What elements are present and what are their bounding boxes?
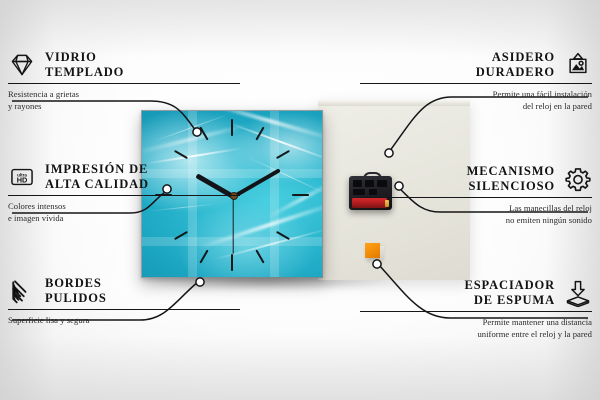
feature-divider [8, 195, 240, 196]
feature-title: IMPRESIÓN DE ALTA CALIDAD [45, 162, 149, 192]
feature-divider [8, 83, 240, 84]
feature-bordes-pulidos: BORDES PULIDOS Superficie lisa y segura [8, 276, 240, 326]
feature-asidero-duradero: ASIDERO DURADERO Permite una fácil insta… [360, 50, 592, 112]
clock-tick [231, 119, 233, 136]
gear-icon [564, 165, 592, 193]
feature-subtitle: Resistencia a grietas y rayones [8, 88, 240, 112]
feature-divider [360, 311, 592, 312]
feature-title: MECANISMO SILENCIOSO [467, 164, 555, 194]
feature-title: ESPACIADOR DE ESPUMA [465, 278, 555, 308]
polished-edges-icon [8, 277, 36, 305]
svg-text:HD: HD [17, 175, 28, 184]
clock-tick [231, 254, 233, 271]
foam-spacer-side [380, 246, 384, 260]
feature-divider [360, 83, 592, 84]
feature-subtitle: Las manecillas del reloj no emiten ningú… [360, 202, 592, 226]
clock-tick [292, 194, 309, 196]
feature-title: BORDES PULIDOS [45, 276, 107, 306]
feature-mecanismo-silencioso: MECANISMO SILENCIOSO Las manecillas del … [360, 164, 592, 226]
feature-title: ASIDERO DURADERO [476, 50, 555, 80]
diamond-icon [8, 51, 36, 79]
foam-spacer [365, 243, 380, 258]
product-infographic: VIDRIO TEMPLADO Resistencia a grietas y … [0, 0, 600, 400]
feature-subtitle: Superficie lisa y segura [8, 314, 240, 326]
feature-subtitle: Permite mantener una distancia uniforme … [360, 316, 592, 340]
foam-spacer-icon [564, 279, 592, 307]
ultra-hd-icon: ultra HD [8, 163, 36, 191]
feature-subtitle: Permite una fácil instalación del reloj … [360, 88, 592, 112]
feature-espaciador-de-espuma: ESPACIADOR DE ESPUMA Permite mantener un… [360, 278, 592, 340]
feature-subtitle: Colores intensos e imagen vívida [8, 200, 240, 224]
feature-title: VIDRIO TEMPLADO [45, 50, 124, 80]
feature-vidrio-templado: VIDRIO TEMPLADO Resistencia a grietas y … [8, 50, 240, 112]
feature-divider [360, 197, 592, 198]
feature-impresion-alta-calidad: ultra HD IMPRESIÓN DE ALTA CALIDAD Color… [8, 162, 240, 224]
picture-hanger-icon [564, 51, 592, 79]
feature-divider [8, 309, 240, 310]
